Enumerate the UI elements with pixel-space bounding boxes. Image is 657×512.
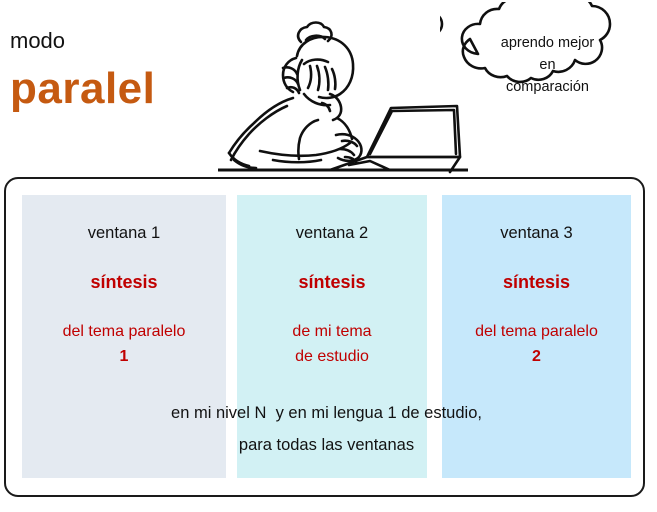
window-2-description: de mi tema de estudio [237, 319, 427, 369]
window-2-description-line-2: de estudio [237, 344, 427, 369]
thought-bubble-line-2: en [460, 54, 635, 76]
title-modo: modo [10, 28, 65, 54]
window-1-heading: síntesis [22, 271, 226, 293]
window-1-description-line-2: 1 [22, 344, 226, 369]
windows-panel: ventana 1 síntesis del tema paralelo 1 v… [4, 177, 645, 497]
window-1-description: del tema paralelo 1 [22, 319, 226, 369]
header: modo paralel [0, 0, 657, 177]
window-3-label: ventana 3 [442, 223, 631, 243]
thought-bubble-text: aprendo mejor en comparación [460, 32, 635, 98]
window-column-1[interactable]: ventana 1 síntesis del tema paralelo 1 [22, 195, 226, 478]
thought-bubble-line-3: comparación [460, 76, 635, 98]
windows-columns: ventana 1 síntesis del tema paralelo 1 v… [6, 179, 647, 499]
thought-bubble-line-1: aprendo mejor [460, 32, 635, 54]
window-column-2[interactable]: ventana 2 síntesis de mi tema de estudio [237, 195, 427, 478]
window-column-3[interactable]: ventana 3 síntesis del tema paralelo 2 [442, 195, 631, 478]
window-3-heading: síntesis [442, 271, 631, 293]
window-3-description-line-1: del tema paralelo [442, 319, 631, 344]
person-studying-at-laptop-icon [218, 2, 468, 174]
title-mode-name: paralel [10, 63, 155, 115]
window-2-label: ventana 2 [237, 223, 427, 243]
window-2-description-line-1: de mi tema [237, 319, 427, 344]
window-1-description-line-1: del tema paralelo [22, 319, 226, 344]
window-2-heading: síntesis [237, 271, 427, 293]
window-3-description: del tema paralelo 2 [442, 319, 631, 369]
window-3-description-line-2: 2 [442, 344, 631, 369]
window-1-label: ventana 1 [22, 223, 226, 243]
